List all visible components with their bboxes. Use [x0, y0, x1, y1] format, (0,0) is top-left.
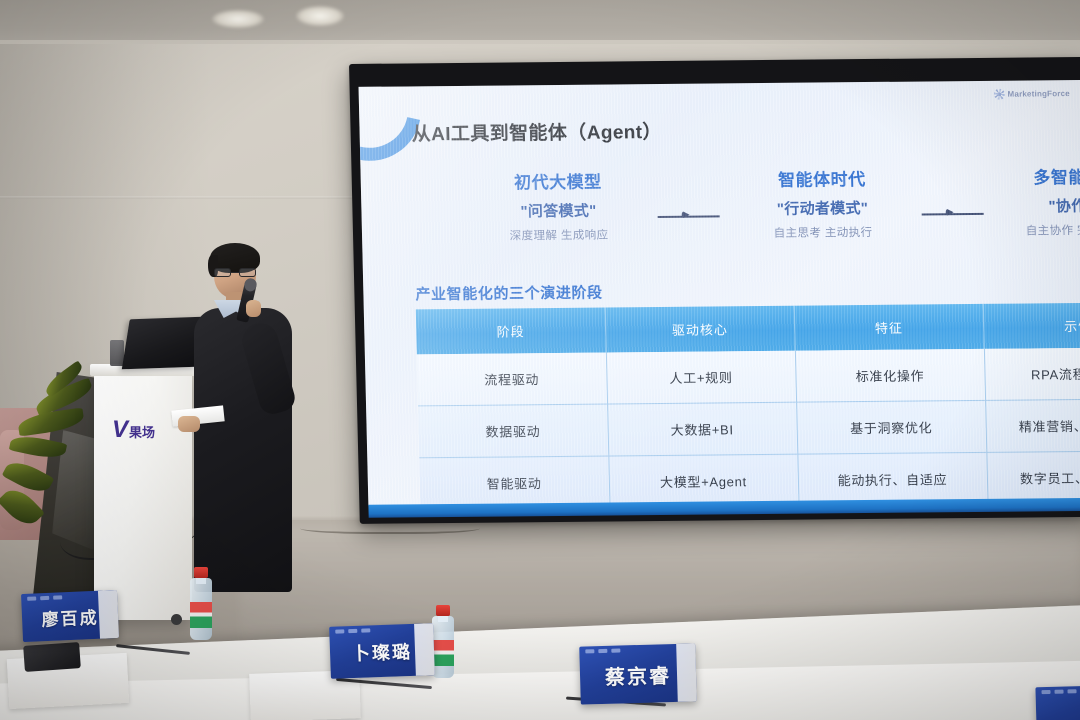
brand-logo: MarketingForce	[993, 88, 1070, 100]
table-header-row: 阶段 驱动核心 特征 示例	[416, 302, 1080, 354]
venue-logo-text: 果场	[129, 426, 155, 439]
water-bottle	[190, 578, 212, 640]
cell-core: 人工+规则	[606, 351, 796, 404]
column-header-core: 驱动核心	[605, 306, 795, 353]
stage-desc: 深度理解 生成响应	[464, 226, 654, 244]
nameplate	[1035, 685, 1080, 720]
cell-example: 精准营销、客户画像	[985, 399, 1080, 453]
nameplate: 廖百成	[21, 590, 119, 642]
section-heading: 产业智能化的三个演进阶段	[415, 282, 603, 305]
cell-feature: 基于洞察优化	[796, 400, 986, 454]
podium	[94, 370, 192, 620]
arrow-right-icon	[654, 211, 728, 222]
column-header-stage: 阶段	[416, 308, 606, 355]
speaker-hand-left	[178, 416, 200, 432]
stage-mode: "问答模式"	[463, 199, 654, 222]
glasses-icon	[214, 268, 256, 278]
cell-core: 大数据+BI	[607, 402, 797, 456]
ceiling-light-icon	[296, 6, 344, 26]
nameplate: 蔡京睿	[579, 643, 697, 704]
stage-card-1: 初代大模型 "问答模式" 深度理解 生成响应	[463, 172, 655, 244]
cell-stage: 数据驱动	[418, 404, 608, 458]
stages-table: 阶段 驱动核心 特征 示例 流程驱动 人工+规则 标准化操作 RPA流程自动化 …	[416, 302, 1080, 506]
venue-logo-letter: V	[112, 418, 128, 442]
water-bottle	[432, 616, 454, 678]
stage-name: 初代大模型	[463, 172, 653, 194]
cell-stage: 智能驱动	[419, 456, 609, 506]
column-header-feature: 特征	[794, 304, 984, 351]
table-row: 流程驱动 人工+规则 标准化操作 RPA流程自动化	[417, 347, 1080, 406]
presentation-screen: MarketingForce 从AI工具到智能体（Agent） 初代大模型 "问…	[349, 57, 1080, 524]
stage-mode: "行动者模式"	[727, 197, 918, 220]
photo-scene: MarketingForce 从AI工具到智能体（Agent） 初代大模型 "问…	[0, 0, 1080, 720]
venue-logo: V 果场	[112, 418, 155, 442]
cell-example: RPA流程自动化	[984, 347, 1080, 400]
brand-name: MarketingForce	[1007, 89, 1070, 99]
stage-desc: 自主思考 主动执行	[728, 224, 918, 242]
stage-desc: 自主协作 完成复杂任务	[992, 221, 1080, 239]
speaker-hand-right	[246, 300, 261, 317]
phone	[23, 642, 81, 672]
cell-feature: 标准化操作	[795, 349, 985, 402]
cell-example: 数字员工、AI智能体	[986, 451, 1080, 504]
slide-title: 从AI工具到智能体（Agent）	[411, 117, 662, 146]
cell-core: 大模型+Agent	[608, 454, 798, 506]
table-row: 数据驱动 大数据+BI 基于洞察优化 精准营销、客户画像	[418, 399, 1080, 458]
evolution-stages: 初代大模型 "问答模式" 深度理解 生成响应 智能体时代 "行动者模式" 自主思…	[407, 168, 1080, 274]
arrow-right-icon	[918, 209, 992, 220]
stage-name: 智能体时代	[727, 170, 917, 192]
ceiling-light-icon	[212, 10, 264, 28]
nameplate-name	[1036, 708, 1080, 711]
table-row: 智能驱动 大模型+Agent 能动执行、自适应 数字员工、AI智能体	[419, 451, 1080, 506]
cell-feature: 能动执行、自适应	[797, 452, 987, 505]
stage-mode: "协作模式"	[991, 194, 1080, 217]
stage-name: 多智能体时代	[991, 167, 1080, 189]
slide-surface: MarketingForce 从AI工具到智能体（Agent） 初代大模型 "问…	[359, 80, 1080, 506]
column-header-example: 示例	[983, 302, 1080, 349]
cell-stage: 流程驱动	[417, 353, 607, 406]
stage-card-3: 多智能体时代 "协作模式" 自主协作 完成复杂任务	[991, 167, 1080, 239]
speaker-presenter	[186, 248, 306, 588]
stage-card-2: 智能体时代 "行动者模式" 自主思考 主动执行	[727, 170, 919, 242]
nameplate: 卜璨璐	[329, 623, 435, 679]
marketingforce-mark-icon	[993, 89, 1004, 100]
